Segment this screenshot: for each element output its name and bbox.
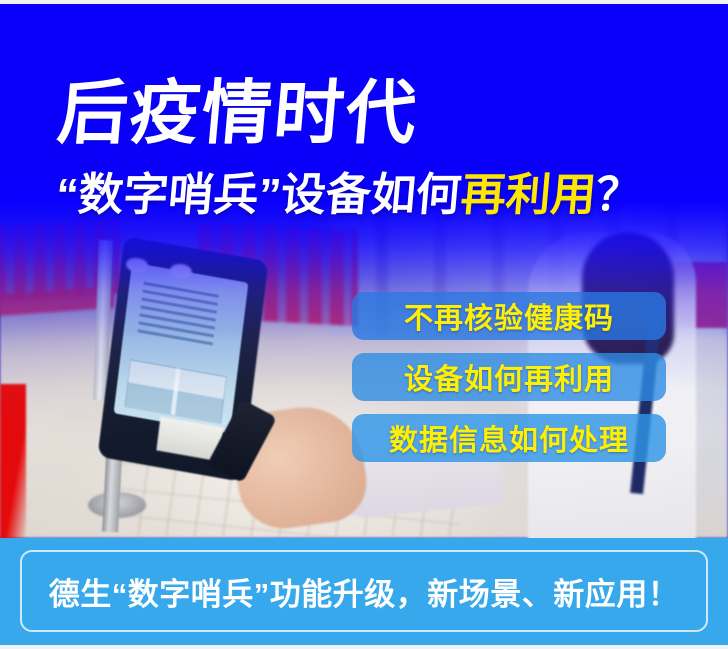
top-white-strip xyxy=(0,0,728,4)
bottom-white-strip xyxy=(0,645,728,649)
page-title-main: 后疫情时代 xyxy=(55,78,421,148)
page-title-sub: “数字哨兵”设备如何再利用？ xyxy=(54,172,643,217)
topic-pill-label: 不再核验健康码 xyxy=(404,295,614,337)
topic-pill-label: 设备如何再利用 xyxy=(404,356,614,398)
page-title-sub-prefix: “数字哨兵”设备如何 xyxy=(54,169,463,220)
bottom-banner-text: 德生“数字哨兵”功能升级，新场景、新应用！ xyxy=(49,569,680,614)
bottom-banner-frame: 德生“数字哨兵”功能升级，新场景、新应用！ xyxy=(20,550,708,632)
bottom-banner: 德生“数字哨兵”功能升级，新场景、新应用！ xyxy=(0,538,728,645)
topic-pill-2[interactable]: 数据信息如何处理 xyxy=(352,414,666,462)
page-title-sub-suffix: ？ xyxy=(594,169,643,220)
topic-pill-0[interactable]: 不再核验健康码 xyxy=(352,292,666,340)
poster-root: 后疫情时代 “数字哨兵”设备如何再利用？ 不再核验健康码 设备如何再利用 数据信… xyxy=(0,0,728,649)
topic-pill-label: 数据信息如何处理 xyxy=(389,417,629,459)
topic-pill-1[interactable]: 设备如何再利用 xyxy=(352,353,666,401)
topic-pill-list: 不再核验健康码 设备如何再利用 数据信息如何处理 xyxy=(352,292,666,475)
page-title-sub-highlight: 再利用 xyxy=(459,169,598,220)
